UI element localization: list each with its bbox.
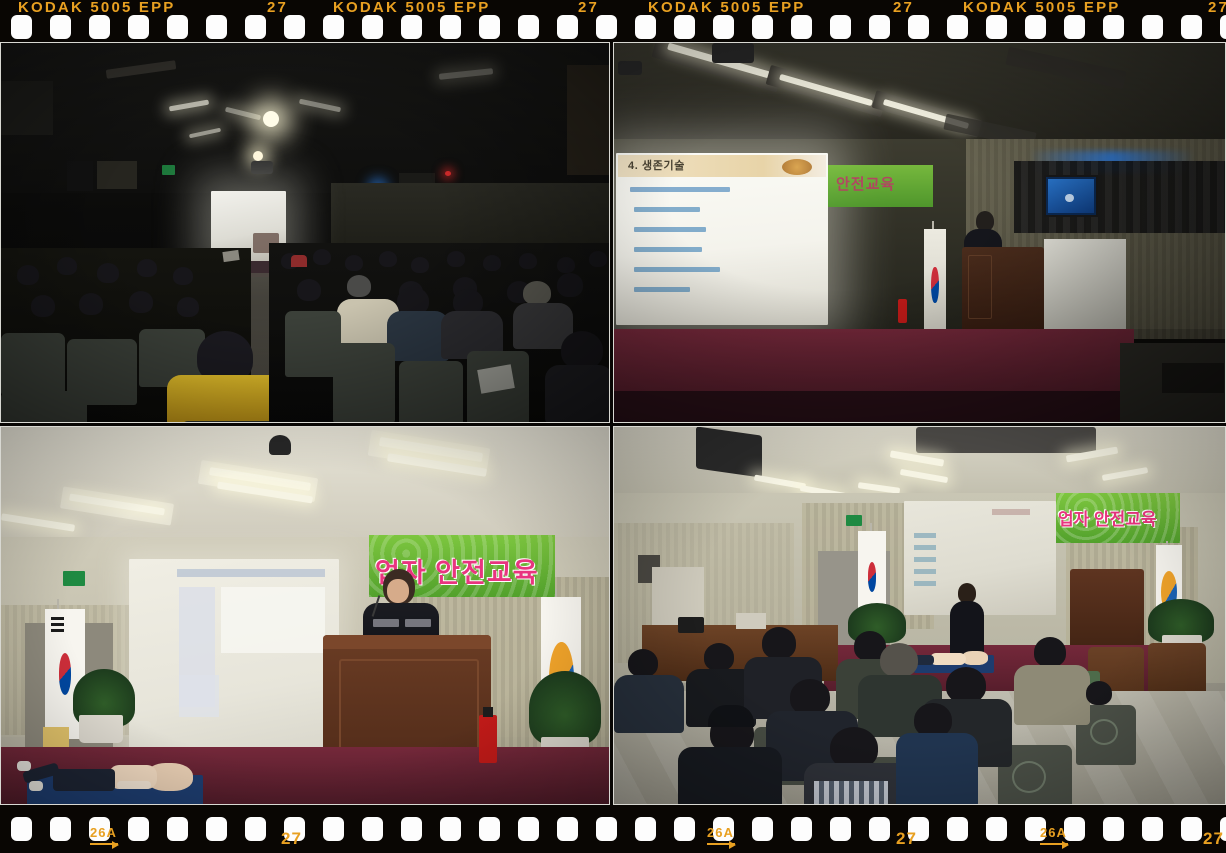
film-direction-arrow-icon xyxy=(707,843,735,845)
wall-tv xyxy=(1044,175,1098,217)
sprocket-hole xyxy=(401,817,422,841)
sprocket-hole xyxy=(323,817,344,841)
sprocket-hole xyxy=(89,15,110,39)
sprocket-hole xyxy=(869,15,890,39)
film-frame-number: 27 xyxy=(896,829,917,849)
banner-text: 업자 안전교육 xyxy=(1058,505,1157,530)
sprocket-hole xyxy=(245,15,266,39)
film-strip-bottom: 26A2726A2726A27 xyxy=(0,805,1226,853)
sprocket-hole xyxy=(947,817,968,841)
sprocket-hole xyxy=(1142,817,1163,841)
sprocket-hole xyxy=(479,15,500,39)
film-brand-text: KODAK 5005 EPP xyxy=(963,0,1121,16)
sprocket-hole xyxy=(362,817,383,841)
cpr-manikin xyxy=(910,649,1000,671)
sprocket-hole xyxy=(1064,15,1085,39)
sprocket-hole xyxy=(440,817,461,841)
ceiling-projector xyxy=(916,427,1096,453)
sprocket-hole xyxy=(635,15,656,39)
sprocket-hole xyxy=(518,15,539,39)
sprocket-hole xyxy=(50,817,71,841)
sprocket-hole xyxy=(518,817,539,841)
sprocket-hole xyxy=(479,817,500,841)
sprocket-hole xyxy=(791,817,812,841)
film-frame-number: 27 xyxy=(1203,829,1224,849)
sprocket-hole xyxy=(557,817,578,841)
sprocket-holes-top xyxy=(0,15,1226,39)
photo-grid: 4. 생존기술 Speaker at wooden podium beside … xyxy=(0,42,1226,805)
sprocket-hole xyxy=(752,15,773,39)
sprocket-hole xyxy=(830,15,851,39)
sprocket-hole xyxy=(50,15,71,39)
potted-plant xyxy=(529,671,601,745)
instructor-head xyxy=(958,583,976,603)
slide-bullet xyxy=(634,227,706,232)
sprocket-hole xyxy=(713,15,734,39)
film-frame-marker: 26A xyxy=(1040,825,1067,840)
sprocket-hole xyxy=(674,817,695,841)
sprocket-hole xyxy=(830,817,851,841)
sprocket-hole xyxy=(947,15,968,39)
sprocket-hole xyxy=(362,15,383,39)
film-brand-text: KODAK 5005 EPP xyxy=(333,0,491,16)
sprocket-hole xyxy=(1103,817,1124,841)
film-direction-arrow-icon xyxy=(90,843,118,845)
whiteboard xyxy=(1044,239,1126,331)
film-frame-number: 27 xyxy=(1208,0,1226,16)
ceiling-projector xyxy=(269,435,291,455)
slide-bullet xyxy=(634,267,720,272)
slide-decor-icon xyxy=(782,159,812,175)
slide-bullet xyxy=(630,187,730,192)
sprocket-hole xyxy=(128,817,149,841)
sprocket-hole xyxy=(167,15,188,39)
sprocket-hole xyxy=(596,817,617,841)
sprocket-hole xyxy=(11,817,32,841)
sprocket-hole xyxy=(674,15,695,39)
film-frame-number: 27 xyxy=(267,0,288,16)
sprocket-hole xyxy=(986,15,1007,39)
sprocket-hole xyxy=(401,15,422,39)
ceiling-projector xyxy=(251,161,273,174)
sprocket-hole xyxy=(1025,15,1046,39)
film-direction-arrow-icon xyxy=(1040,843,1068,845)
korean-flag xyxy=(924,229,946,341)
photo-top-left[interactable] xyxy=(0,42,610,423)
sprocket-hole xyxy=(440,15,461,39)
film-brand-text: KODAK 5005 EPP xyxy=(18,0,176,16)
sprocket-hole xyxy=(1220,15,1226,39)
sprocket-hole xyxy=(635,817,656,841)
fire-extinguisher xyxy=(898,299,907,323)
exit-sign xyxy=(162,165,175,175)
film-collage: KODAK 5005 EPP27KODAK 5005 EPP27KODAK 50… xyxy=(0,0,1226,853)
film-frame-number: 27 xyxy=(281,829,302,849)
photo-top-right[interactable]: 4. 생존기술 Speaker at wooden podium beside … xyxy=(613,42,1226,423)
fire-extinguisher xyxy=(479,715,497,763)
slide-title: 4. 생존기술 xyxy=(628,157,685,173)
sprocket-hole xyxy=(986,817,1007,841)
sprocket-hole xyxy=(752,817,773,841)
sprocket-hole xyxy=(1181,15,1202,39)
film-brand-text: KODAK 5005 EPP xyxy=(648,0,806,16)
film-strip-top: KODAK 5005 EPP27KODAK 5005 EPP27KODAK 50… xyxy=(0,0,1226,42)
sprocket-hole xyxy=(596,15,617,39)
sprocket-hole xyxy=(206,817,227,841)
photo-bottom-right[interactable]: 업자 안전교육 xyxy=(613,426,1226,805)
sprocket-hole xyxy=(206,15,227,39)
sprocket-hole xyxy=(791,15,812,39)
film-frame-marker: 26A xyxy=(707,825,734,840)
sprocket-hole xyxy=(1181,817,1202,841)
exit-sign xyxy=(63,571,85,586)
sprocket-hole xyxy=(128,15,149,39)
cpr-manikin xyxy=(17,753,207,803)
exit-sign xyxy=(846,515,862,526)
sprocket-hole xyxy=(1103,15,1124,39)
green-banner: 업자 안전교육 xyxy=(1056,493,1180,543)
sprocket-hole xyxy=(245,817,266,841)
ceiling-projector xyxy=(712,43,754,63)
sprocket-hole xyxy=(167,817,188,841)
sprocket-hole xyxy=(1064,817,1085,841)
film-frame-marker: 26A xyxy=(90,825,117,840)
photo-bottom-left[interactable]: 업자 안전교육 xyxy=(0,426,610,805)
film-frame-number: 27 xyxy=(578,0,599,16)
sprocket-hole xyxy=(908,15,929,39)
film-frame-number: 27 xyxy=(893,0,914,16)
projection-screen xyxy=(616,153,828,325)
presenter-head xyxy=(976,211,994,231)
sprocket-hole xyxy=(11,15,32,39)
slide-bullet xyxy=(634,207,700,212)
sprocket-hole xyxy=(284,15,305,39)
sprocket-hole xyxy=(1142,15,1163,39)
sprocket-hole xyxy=(557,15,578,39)
ceiling-projector xyxy=(618,61,642,75)
slide-bullet xyxy=(634,287,690,292)
sprocket-hole xyxy=(869,817,890,841)
slide-bullet xyxy=(634,247,702,252)
sprocket-hole xyxy=(323,15,344,39)
